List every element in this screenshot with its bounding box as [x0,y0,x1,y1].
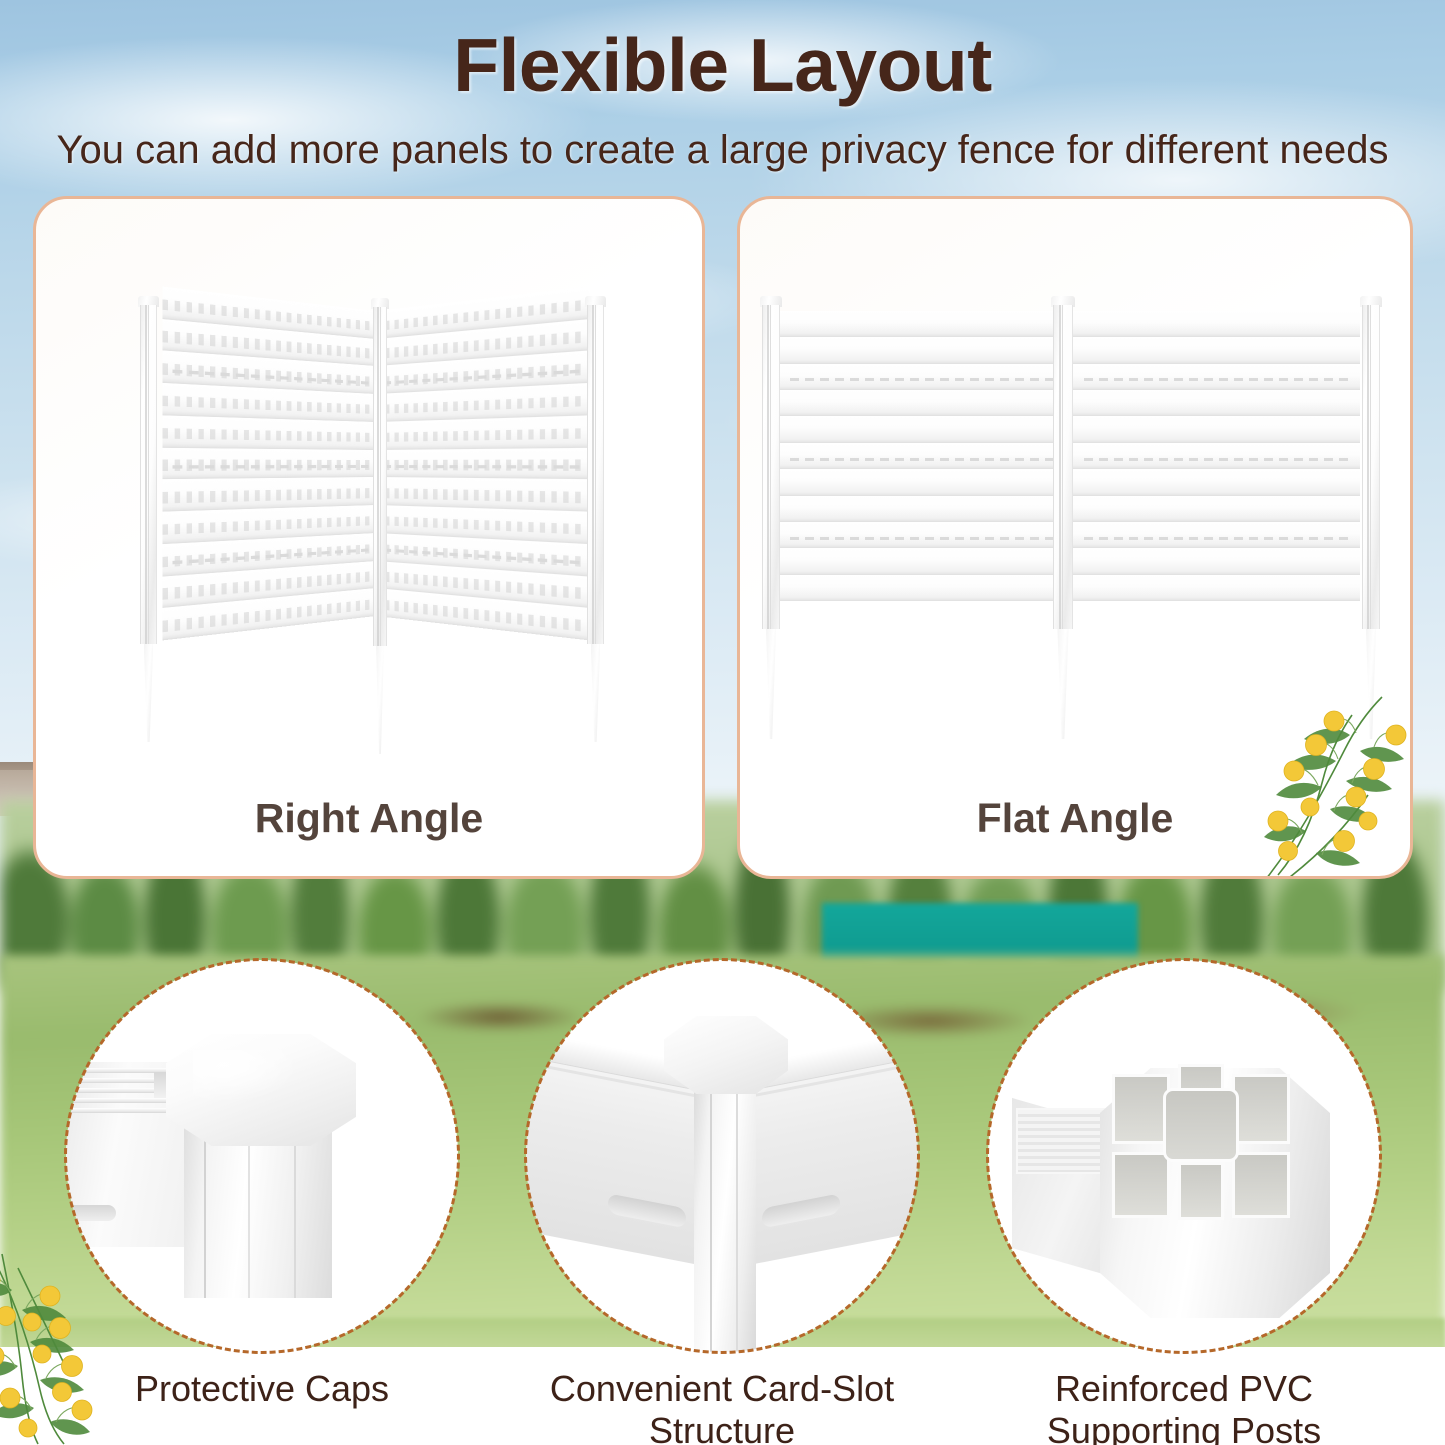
fence-slat [376,415,589,449]
fence-slat [778,443,1066,469]
ground-spike [1057,629,1068,739]
fence-slat [1072,311,1360,337]
fence-slat [1072,364,1360,390]
fence-slat [1072,416,1360,442]
caption-line-2: Supporting Posts [952,1410,1416,1445]
ground-spike [766,629,776,739]
protective-cap [664,1016,788,1094]
fence-slat [778,416,1066,442]
corner-post-outer-left [140,305,157,644]
fence-slat [1072,575,1360,601]
fence-slat [778,390,1066,416]
fence-slat [778,311,1066,337]
fence-slat [163,415,376,449]
support-post-right [1362,305,1380,629]
card-flat-angle[interactable]: Flat Angle [737,196,1413,879]
fence-slat [1072,337,1360,363]
support-post-left [762,305,780,629]
feature-image-reinforced-pvc-posts[interactable] [988,960,1380,1352]
center-chamber [1163,1088,1239,1162]
fence-panel-2 [1072,311,1360,601]
poster-stage: Flexible Layout You can add more panels … [0,0,1445,1445]
fence-slat [376,447,589,479]
caption-line-1: Reinforced PVC [952,1368,1416,1410]
fence-illustration-right-angle [36,199,705,879]
fence-slat [163,447,376,479]
page-title: Flexible Layout [0,22,1445,108]
page-subtitle: You can add more panels to create a larg… [0,128,1445,173]
fence-slat [1072,469,1360,495]
ground-spike [591,644,601,742]
fence-slat [1072,548,1360,574]
fence-slat [1072,443,1360,469]
fence-slat [778,548,1066,574]
fence-slat [1072,390,1360,416]
fence-slat [778,337,1066,363]
caption-line-1: Convenient Card-Slot [490,1368,954,1410]
feature-caption-reinforced-pvc-posts: Reinforced PVC Supporting Posts [952,1368,1416,1445]
feature-image-card-slot-structure[interactable] [526,960,918,1352]
fence-slat [1072,522,1360,548]
card-slot [66,1205,116,1221]
fence-slat [778,364,1066,390]
fence-panel-left [163,287,376,641]
ground-spike [144,644,154,742]
protective-cap [166,1034,356,1146]
fence-slat [778,469,1066,495]
feature-image-protective-caps[interactable] [66,960,458,1352]
fence-panel-right [376,287,589,641]
card-label-right-angle: Right Angle [36,795,702,842]
card-right-angle[interactable]: Right Angle [33,196,705,879]
fence-slat [778,575,1066,601]
caption-line-2: Structure [490,1410,954,1445]
fence-panel-1 [778,311,1066,601]
corner-post [694,1062,756,1352]
card-slot-left [608,1193,686,1228]
fence-slat [1072,496,1360,522]
ground-spike [376,646,384,754]
support-post-center [1053,305,1073,629]
card-slot-right [762,1193,840,1228]
corner-post-outer-right [587,305,604,644]
fence-slat [778,496,1066,522]
ground-spike [1366,629,1376,739]
teal-privacy-screen [822,903,1138,961]
fence-slat [778,522,1066,548]
feature-caption-card-slot-structure: Convenient Card-Slot Structure [490,1368,954,1445]
corner-post-center [373,307,387,646]
feature-caption-protective-caps: Protective Caps [30,1368,494,1410]
card-label-flat-angle: Flat Angle [740,795,1410,842]
fence-illustration-flat-angle [740,199,1413,879]
